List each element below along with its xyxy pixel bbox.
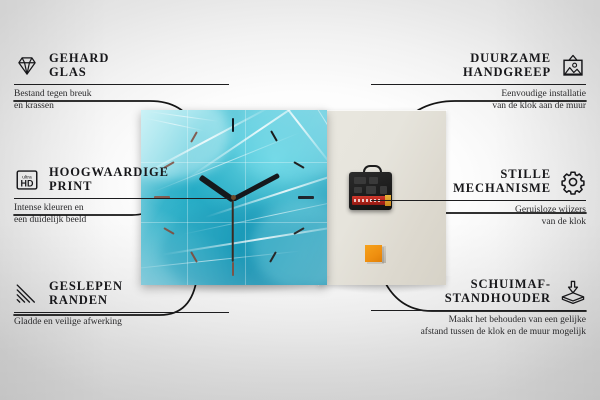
feature-gehard-glas: GEHARD GLAS Bestand tegen breuk en krass… [14,52,229,112]
feature-head: DUURZAME HANDGREEP [371,52,586,79]
feature-description: Geruisloze wijzers van de klok [371,205,586,228]
divider [14,312,229,313]
bevelled-edge-icon [14,281,40,307]
feature-head: STILLE MECHANISME [371,168,586,195]
feature-title: SCHUIMAF- STANDHOUDER [445,278,551,305]
feature-head: ultra HD HOOGWAARDIGE PRINT [14,166,229,193]
feature-title: GESLEPEN RANDEN [49,280,123,307]
feature-head: SCHUIMAF- STANDHOUDER [371,278,586,305]
divider [371,84,586,85]
feature-description: Eenvoudige installatie van de klok aan d… [371,89,586,112]
divider [14,198,229,199]
feature-title: DUURZAME HANDGREEP [463,52,551,79]
ultra-hd-icon: ultra HD [14,167,40,193]
diamond-icon [14,53,40,79]
svg-text:HD: HD [21,178,34,188]
feature-geslepen-randen: GESLEPEN RANDEN Gladde en veilige afwerk… [14,280,229,329]
feature-stille-mechanisme: STILLE MECHANISME Geruisloze wijzers van… [371,168,586,228]
feature-head: GEHARD GLAS [14,52,229,79]
feature-schuimaf-standhouder: SCHUIMAF- STANDHOUDER Maakt het behouden… [371,278,586,338]
foam-pad-side [382,246,386,263]
feature-description: Bestand tegen breuk en krassen [14,89,229,112]
divider [371,310,586,311]
feature-head: GESLEPEN RANDEN [14,280,229,307]
divider [371,200,586,201]
picture-hanger-icon [560,53,586,79]
feature-title: HOOGWAARDIGE PRINT [49,166,169,193]
press-down-pad-icon [560,279,586,305]
feature-title: GEHARD GLAS [49,52,109,79]
feature-description: Maakt het behouden van een gelijke afsta… [371,315,586,338]
divider [14,84,229,85]
foam-standoff-pad [365,245,382,262]
feature-description: Gladde en veilige afwerking [14,317,229,329]
feature-description: Intense kleuren en een duidelijk beeld [14,203,229,226]
feature-hoogwaardige-print: ultra HD HOOGWAARDIGE PRINT Intense kleu… [14,166,229,226]
gear-icon [560,169,586,195]
infographic-canvas: GEHARD GLAS Bestand tegen breuk en krass… [0,0,600,400]
feature-duurzame-handgreep: DUURZAME HANDGREEP Eenvoudige installati… [371,52,586,112]
feature-title: STILLE MECHANISME [453,168,551,195]
